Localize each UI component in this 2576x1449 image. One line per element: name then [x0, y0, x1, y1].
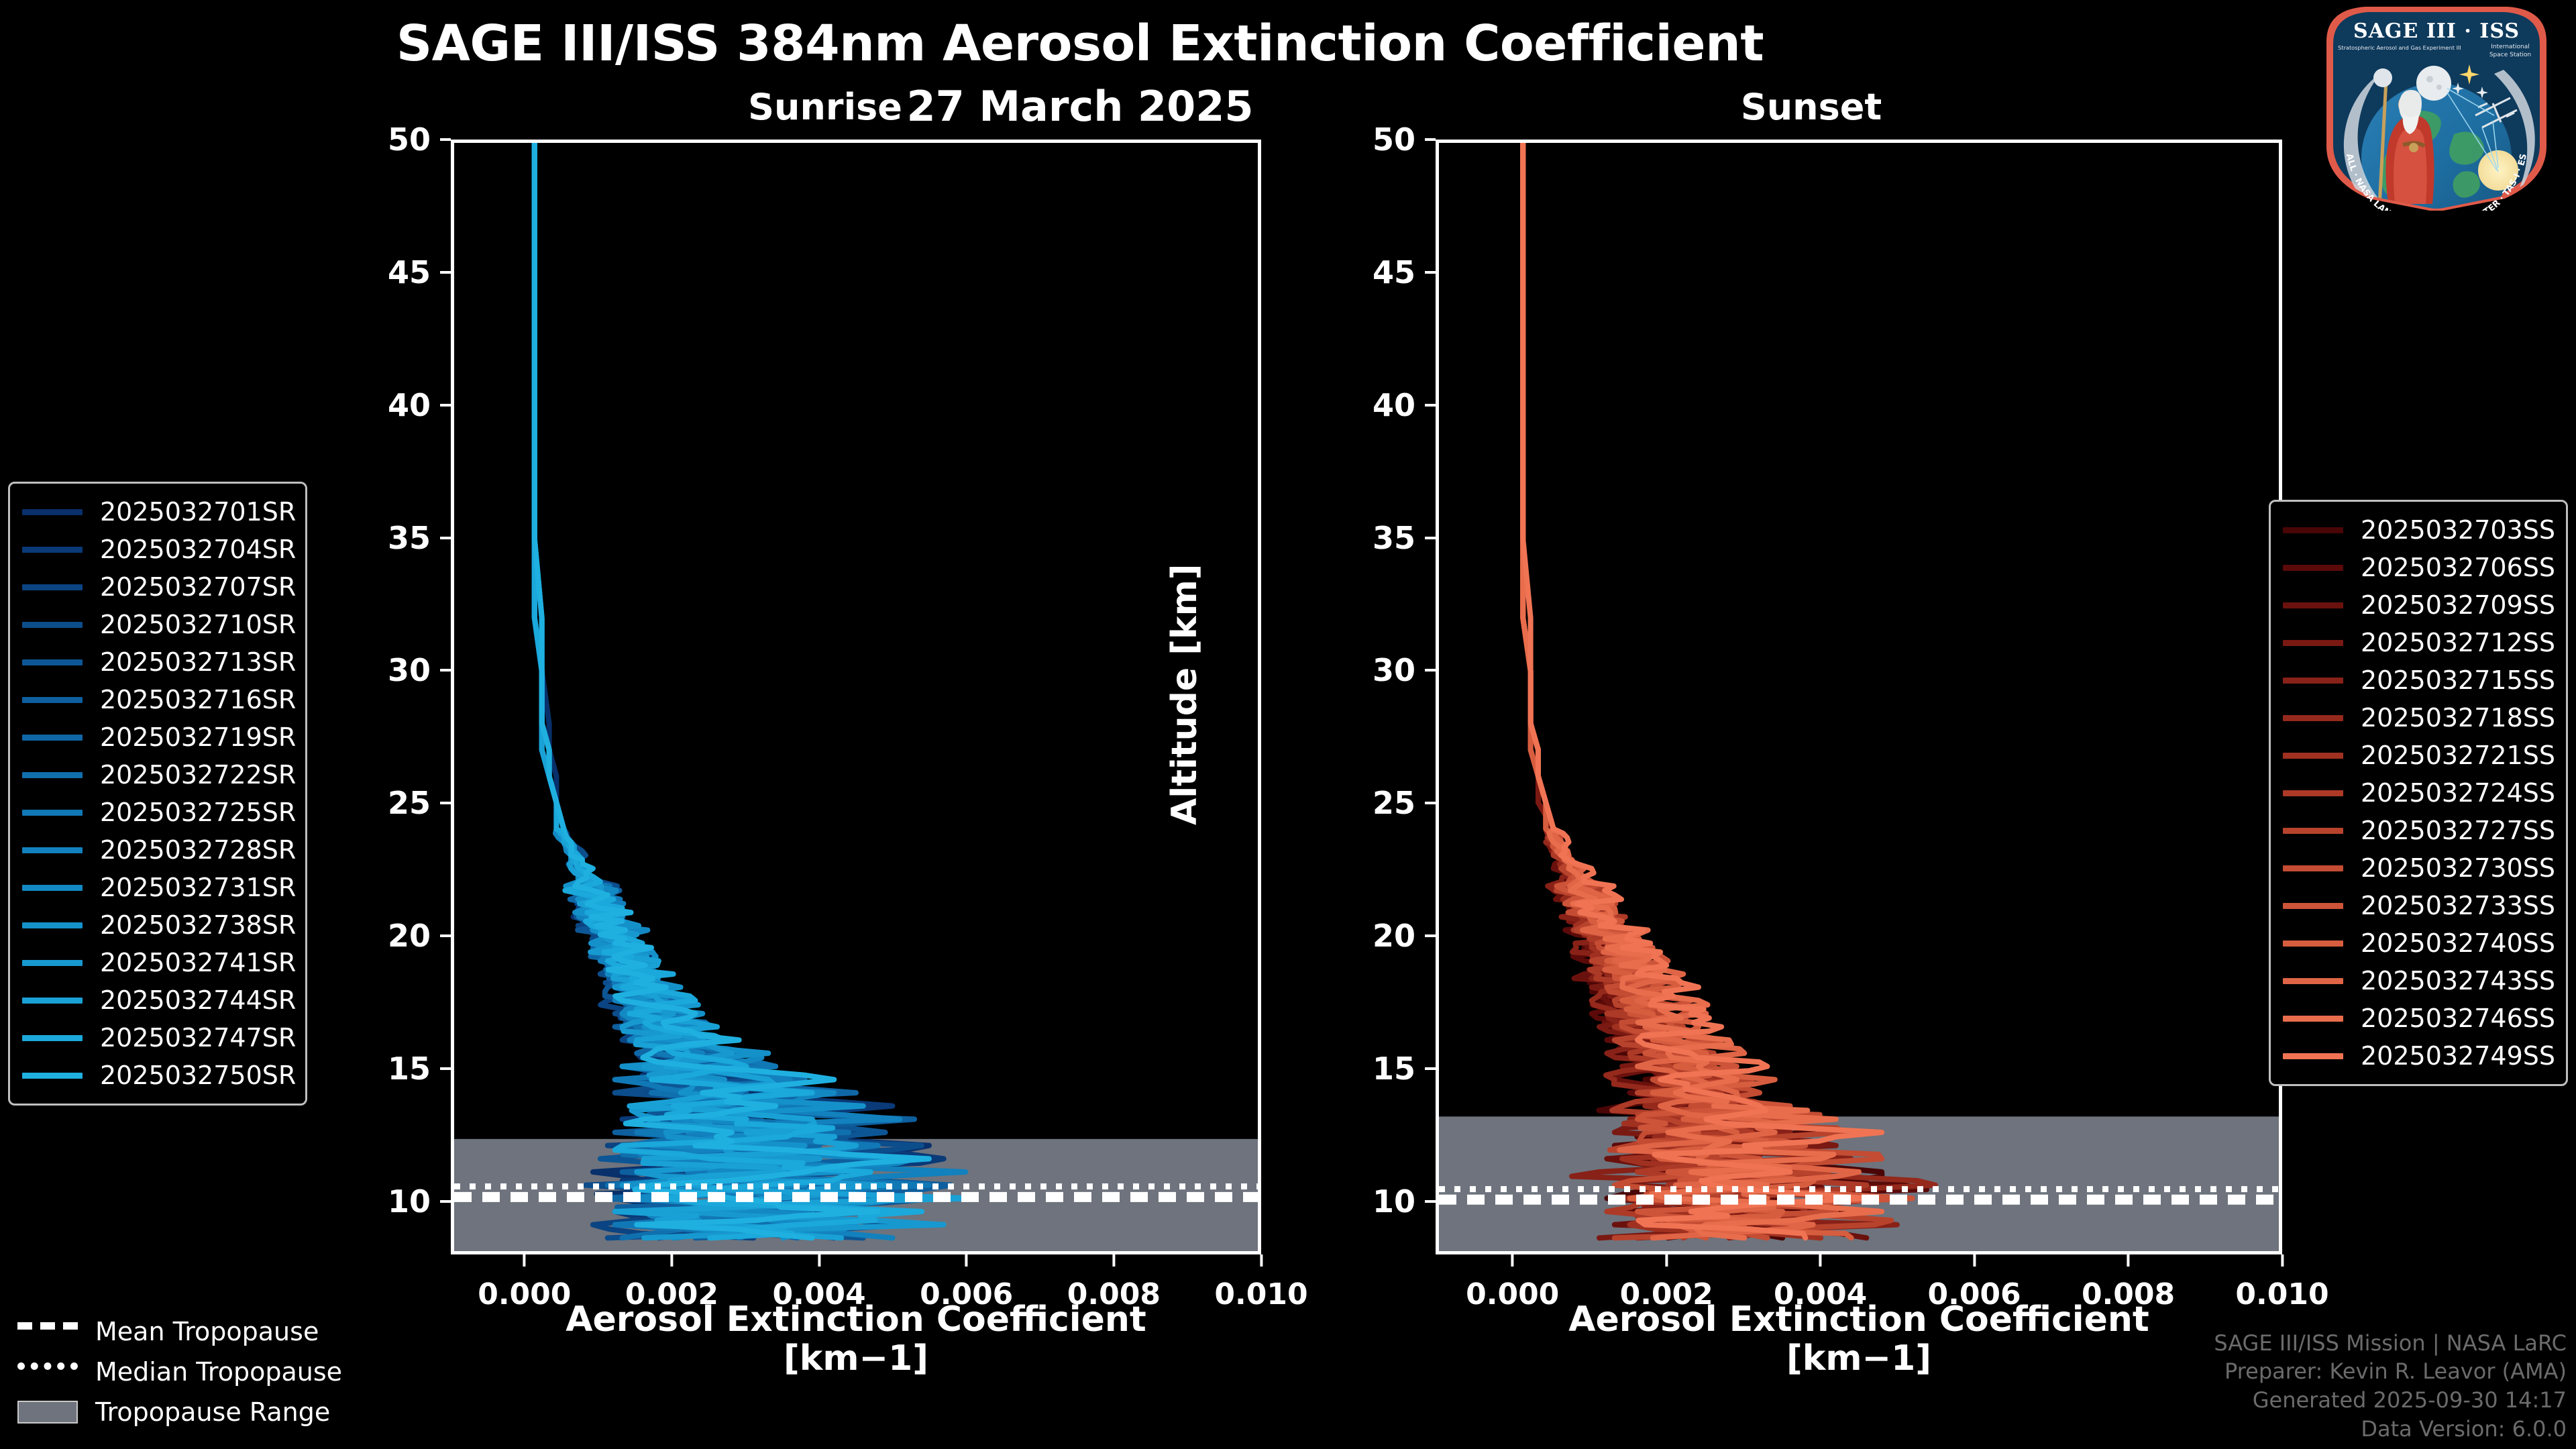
legend-sunset-item[interactable]: 2025032721SS	[2280, 737, 2553, 774]
tropopause-legend-item[interactable]: Median Tropopause	[13, 1352, 389, 1392]
credits-line-mission: SAGE III/ISS Mission | NASA LaRC	[2214, 1329, 2567, 1358]
x-axis-label-text-sunset: Aerosol Extinction Coefficient	[1568, 1299, 2149, 1340]
plot-panel-sunrise[interactable]	[451, 140, 1261, 1254]
patch-title-text: SAGE III · ISS	[2353, 19, 2520, 43]
legend-sunrise-item[interactable]: 2025032716SR	[19, 681, 292, 718]
y-tick-label-15: 15	[297, 1051, 451, 1087]
legend-item-label: 2025032710SR	[100, 610, 296, 639]
legend-color-swatch	[2283, 941, 2343, 947]
legend-sunrise-item[interactable]: 2025032722SR	[19, 756, 292, 794]
legend-color-swatch	[2283, 978, 2343, 984]
legend-item-label: 2025032719SR	[100, 722, 296, 752]
legend-color-swatch	[22, 509, 83, 515]
dashed-line-swatch	[17, 1322, 78, 1344]
legend-color-swatch	[22, 1035, 83, 1041]
legend-color-swatch	[2283, 1016, 2343, 1022]
legend-item-label: 2025032730SS	[2361, 853, 2555, 883]
legend-item-label: 2025032715SS	[2361, 665, 2555, 695]
legend-color-swatch	[22, 1073, 83, 1079]
legend-sunset-item[interactable]: 2025032746SS	[2280, 1000, 2553, 1037]
panel-title-sunrise: Sunrise	[590, 86, 1060, 128]
legend-sunset-item[interactable]: 2025032709SS	[2280, 586, 2553, 624]
y-tick-label-50: 50	[297, 121, 451, 158]
x-axis-unit-sunrise: [km−1]	[451, 1339, 1261, 1378]
dotted-line-swatch	[17, 1362, 78, 1385]
patch-subtitle-left: Stratospheric Aerosol and Gas Experiment…	[2338, 44, 2461, 51]
legend-color-swatch	[22, 735, 83, 741]
y-tick-label-20: 20	[1281, 918, 1436, 954]
legend-tropopause[interactable]: Mean TropopauseMedian TropopauseTropopau…	[13, 1311, 389, 1432]
legend-item-label: 2025032743SS	[2361, 966, 2555, 996]
legend-color-swatch	[22, 847, 83, 853]
legend-color-swatch	[22, 622, 83, 628]
legend-sunset[interactable]: 2025032703SS2025032706SS2025032709SS2025…	[2269, 500, 2568, 1086]
legend-item-label: 2025032728SR	[100, 835, 296, 865]
patch-moon	[2416, 66, 2451, 101]
tropopause-legend-label: Mean Tropopause	[95, 1317, 319, 1346]
legend-sunset-item[interactable]: 2025032706SS	[2280, 549, 2553, 586]
legend-item-label: 2025032701SR	[100, 497, 296, 527]
y-tick-label-10: 10	[297, 1183, 451, 1220]
legend-item-label: 2025032731SR	[100, 873, 296, 902]
legend-color-swatch	[2283, 828, 2343, 834]
y-tick-label-25: 25	[1281, 785, 1436, 821]
x-axis-label-text-sunrise: Aerosol Extinction Coefficient	[566, 1299, 1146, 1340]
series-line	[1523, 143, 1882, 1238]
legend-sunset-item[interactable]: 2025032715SS	[2280, 661, 2553, 699]
legend-item-label: 2025032718SS	[2361, 703, 2555, 733]
y-tick-label-30: 30	[1281, 652, 1436, 688]
patch-subtitle-right-1: International	[2491, 44, 2529, 50]
legend-color-swatch	[22, 659, 83, 665]
legend-color-swatch	[2283, 865, 2343, 871]
legend-sunrise[interactable]: 2025032701SR2025032704SR2025032707SR2025…	[8, 482, 307, 1106]
credits-line-preparer: Preparer: Kevin R. Leavor (AMA)	[2214, 1357, 2567, 1386]
legend-color-swatch	[22, 922, 83, 928]
legend-color-swatch	[22, 584, 83, 590]
legend-item-label: 2025032740SS	[2361, 928, 2555, 958]
y-tick-label-45: 45	[297, 254, 451, 290]
legend-sunrise-item[interactable]: 2025032707SR	[19, 568, 292, 606]
tropopause-legend-label: Median Tropopause	[95, 1357, 342, 1387]
legend-color-swatch	[2283, 565, 2343, 571]
legend-sunset-item[interactable]: 2025032727SS	[2280, 812, 2553, 849]
legend-color-swatch	[2283, 678, 2343, 684]
legend-item-label: 2025032706SS	[2361, 553, 2555, 582]
legend-sunset-item[interactable]: 2025032712SS	[2280, 624, 2553, 661]
legend-color-swatch	[2283, 790, 2343, 796]
patch-subtitle-right-2: Space Station	[2489, 52, 2531, 58]
tropopause-legend-label: Tropopause Range	[95, 1397, 330, 1427]
credits-block: SAGE III/ISS Mission | NASA LaRC Prepare…	[2214, 1329, 2567, 1444]
legend-item-label: 2025032721SS	[2361, 741, 2555, 770]
y-tick-label-35: 35	[1281, 520, 1436, 556]
legend-item-label: 2025032733SS	[2361, 891, 2555, 920]
legend-color-swatch	[22, 998, 83, 1004]
legend-sunset-item[interactable]: 2025032740SS	[2280, 924, 2553, 962]
legend-sunrise-item[interactable]: 2025032719SR	[19, 718, 292, 756]
y-tick-label-30: 30	[297, 652, 451, 688]
tropopause-legend-item[interactable]: Tropopause Range	[13, 1392, 389, 1432]
legend-item-label: 2025032722SR	[100, 760, 296, 790]
legend-item-label: 2025032750SR	[100, 1061, 296, 1090]
y-tick-label-25: 25	[297, 785, 451, 821]
credits-line-generated: Generated 2025-09-30 14:17	[2214, 1386, 2567, 1415]
legend-item-label: 2025032703SS	[2361, 515, 2555, 545]
legend-color-swatch	[22, 772, 83, 778]
legend-item-label: 2025032747SR	[100, 1023, 296, 1053]
legend-sunrise-item[interactable]: 2025032750SR	[19, 1057, 292, 1094]
x-axis-label-sunset: Aerosol Extinction Coefficient [km−1]	[1436, 1300, 2282, 1378]
legend-item-label: 2025032704SR	[100, 535, 296, 564]
plot-panel-sunset[interactable]	[1436, 140, 2282, 1254]
legend-item-label: 2025032707SR	[100, 572, 296, 602]
plot-canvas-sunset	[1439, 143, 2279, 1251]
legend-item-label: 2025032716SR	[100, 685, 296, 714]
legend-item-label: 2025032713SR	[100, 647, 296, 677]
plot-canvas-sunrise	[454, 143, 1258, 1251]
legend-sunset-item[interactable]: 2025032733SS	[2280, 887, 2553, 924]
legend-sunrise-item[interactable]: 2025032725SR	[19, 794, 292, 831]
tropopause-range-swatch	[17, 1401, 78, 1424]
legend-color-swatch	[22, 960, 83, 966]
y-tick-label-15: 15	[1281, 1051, 1436, 1087]
legend-sunrise-item[interactable]: 2025032744SR	[19, 981, 292, 1019]
y-tick-label-20: 20	[297, 918, 451, 954]
legend-color-swatch	[22, 810, 83, 816]
y-tick-label-45: 45	[1281, 254, 1436, 290]
plot-area-sunrise	[454, 143, 1258, 1251]
legend-sunset-item[interactable]: 2025032703SS	[2280, 511, 2553, 549]
legend-color-swatch	[2283, 640, 2343, 646]
legend-item-label: 2025032724SS	[2361, 778, 2555, 808]
x-axis-unit-sunset: [km−1]	[1436, 1339, 2282, 1378]
legend-item-label: 2025032738SR	[100, 910, 296, 940]
legend-sunset-item[interactable]: 2025032724SS	[2280, 774, 2553, 812]
credits-line-version: Data Version: 6.0.0	[2214, 1415, 2567, 1444]
series-line	[535, 143, 966, 1238]
legend-item-label: 2025032725SR	[100, 798, 296, 827]
legend-sunrise-item[interactable]: 2025032710SR	[19, 606, 292, 643]
legend-item-label: 2025032727SS	[2361, 816, 2555, 845]
legend-sunrise-item[interactable]: 2025032704SR	[19, 531, 292, 568]
y-tick-label-40: 40	[297, 387, 451, 423]
legend-sunrise-item[interactable]: 2025032747SR	[19, 1019, 292, 1057]
legend-sunrise-item[interactable]: 2025032738SR	[19, 906, 292, 944]
legend-item-label: 2025032712SS	[2361, 628, 2555, 657]
legend-color-swatch	[2283, 903, 2343, 909]
page-title: SAGE III/ISS 384nm Aerosol Extinction Co…	[0, 15, 2160, 72]
legend-sunrise-item[interactable]: 2025032741SR	[19, 944, 292, 981]
y-tick-label-40: 40	[1281, 387, 1436, 423]
plot-area-sunset	[1439, 143, 2279, 1251]
y-tick-label-50: 50	[1281, 121, 1436, 158]
panel-title-sunset: Sunset	[1576, 86, 2046, 128]
legend-color-swatch	[22, 885, 83, 891]
legend-color-swatch	[2283, 715, 2343, 721]
legend-sunset-item[interactable]: 2025032730SS	[2280, 849, 2553, 887]
legend-item-label: 2025032709SS	[2361, 590, 2555, 620]
legend-sunrise-item[interactable]: 2025032713SR	[19, 643, 292, 681]
legend-color-swatch	[2283, 527, 2343, 533]
legend-color-swatch	[2283, 753, 2343, 759]
legend-sunrise-item[interactable]: 2025032701SR	[19, 493, 292, 531]
legend-item-label: 2025032744SR	[100, 985, 296, 1015]
legend-sunrise-item[interactable]: 2025032728SR	[19, 831, 292, 869]
legend-sunset-item[interactable]: 2025032749SS	[2280, 1037, 2553, 1075]
legend-sunrise-item[interactable]: 2025032731SR	[19, 869, 292, 906]
legend-color-swatch	[22, 697, 83, 703]
y-tick-label-35: 35	[297, 520, 451, 556]
legend-color-swatch	[2283, 602, 2343, 608]
x-axis-label-sunrise: Aerosol Extinction Coefficient [km−1]	[451, 1300, 1261, 1378]
legend-color-swatch	[22, 547, 83, 553]
sage-iii-iss-mission-patch-logo: SAGE III · ISS Stratospheric Aerosol and…	[2302, 3, 2571, 211]
tropopause-legend-item[interactable]: Mean Tropopause	[13, 1311, 389, 1352]
legend-color-swatch	[2283, 1053, 2343, 1059]
legend-item-label: 2025032746SS	[2361, 1004, 2555, 1033]
legend-item-label: 2025032741SR	[100, 948, 296, 977]
y-tick-label-10: 10	[1281, 1183, 1436, 1220]
legend-sunset-item[interactable]: 2025032718SS	[2280, 699, 2553, 737]
legend-sunset-item[interactable]: 2025032743SS	[2280, 962, 2553, 1000]
y-axis-label-sunset: Altitude [km]	[1165, 570, 1205, 825]
legend-item-label: 2025032749SS	[2361, 1041, 2555, 1071]
